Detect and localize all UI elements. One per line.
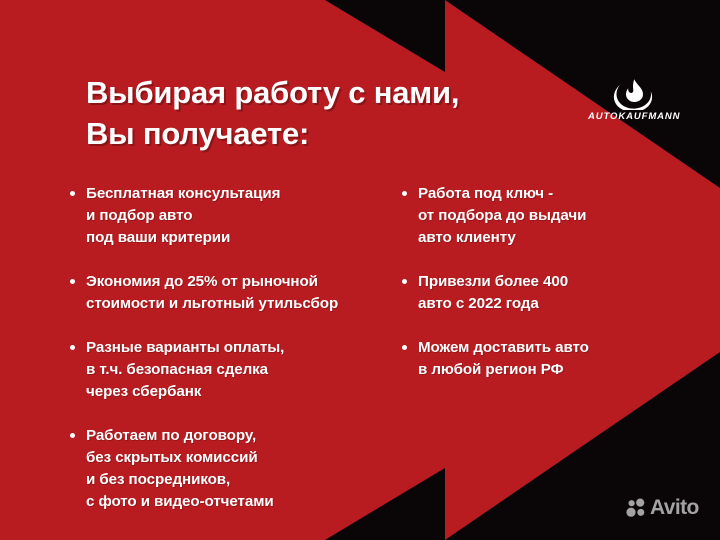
list-item: Привезли более 400 авто с 2022 года [400,271,700,315]
list-item: Бесплатная консультация и подбор авто по… [68,183,398,249]
avito-label: Avito [650,497,699,518]
benefits-left-column: Бесплатная консультация и подбор авто по… [68,183,398,535]
brand-logo: AUTOKAUFMANN [588,76,680,122]
page-title: Выбирая работу с нами, Вы получаете: [86,72,566,154]
avito-dots-icon [626,498,646,518]
list-item: Экономия до 25% от рыночной стоимости и … [68,271,398,315]
list-item: Работа под ключ - от подбора до выдачи а… [400,183,700,249]
flame-swoosh-icon [588,76,680,110]
list-item: Можем доставить авто в любой регион РФ [400,337,700,381]
list-item: Разные варианты оплаты, в т.ч. безопасна… [68,337,398,403]
list-item: Работаем по договору, без скрытых комисс… [68,425,398,513]
benefits-right-column: Работа под ключ - от подбора до выдачи а… [400,183,700,403]
brand-name: AUTOKAUFMANN [588,111,680,122]
avito-watermark: Avito [626,497,699,518]
poster-canvas: Выбирая работу с нами, Вы получаете: AUT… [0,0,720,540]
